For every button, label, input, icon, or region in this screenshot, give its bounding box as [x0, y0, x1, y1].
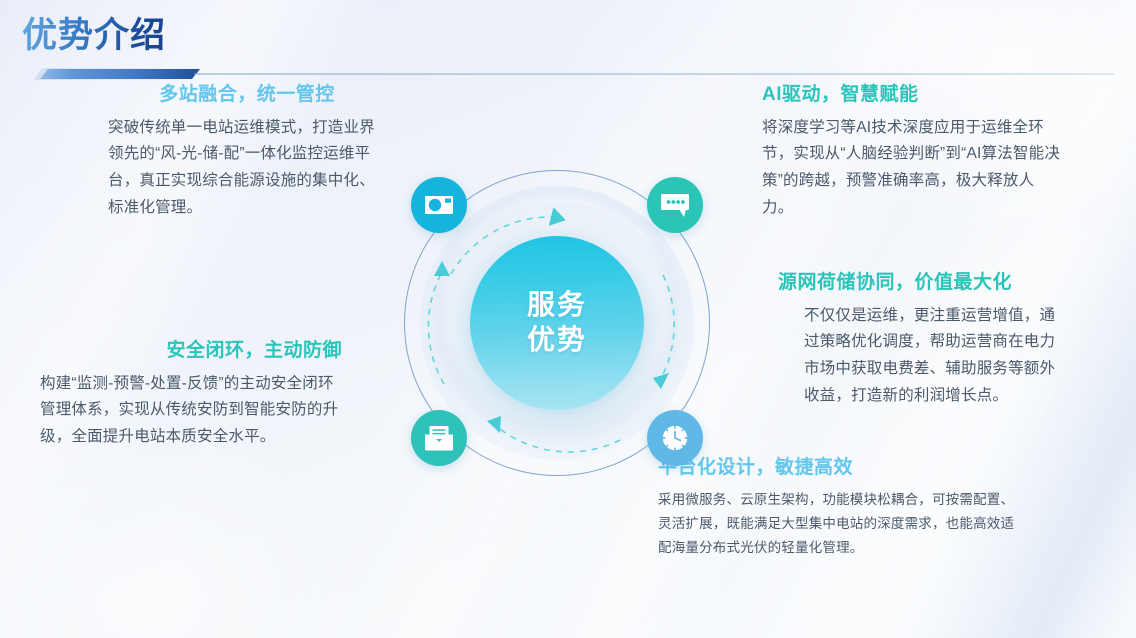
- feature-block-multi-station: 多站融合，统一管控 突破传统单一电站运维模式，打造业界领先的“风-光-储-配”一…: [108, 84, 386, 221]
- feature-block-ai-driven: AI驱动，智慧赋能 将深度学习等AI技术深度应用于运维全环节，实现从“人脑经验判…: [762, 84, 1062, 221]
- diagram-node-camera[interactable]: [411, 177, 467, 233]
- diagram-node-chat[interactable]: [647, 177, 703, 233]
- title-underline: [22, 66, 1114, 84]
- background-glow-bottom-left: [0, 418, 360, 638]
- core-label-line2: 优势: [527, 323, 587, 358]
- diagram-center-core: 服务 优势: [470, 236, 644, 410]
- slide-canvas: 优势介绍: [0, 0, 1136, 638]
- feature-heading-security: 安全闭环，主动防御: [40, 340, 348, 363]
- feature-body-ai-driven: 将深度学习等AI技术深度应用于运维全环节，实现从“人脑经验判断”到“AI算法智能…: [762, 115, 1062, 222]
- slide-header: 优势介绍: [22, 16, 1122, 55]
- service-advantage-diagram: 服务 优势: [382, 148, 732, 498]
- feature-block-value-max: 源网荷储协同，价值最大化 不仅仅是运维，更注重运营增值，通过策略优化调度，帮助运…: [778, 272, 1070, 409]
- page-title: 优势介绍: [22, 16, 170, 55]
- feature-block-security: 安全闭环，主动防御 构建“监测-预警-处置-反馈”的主动安全闭环管理体系，实现从…: [40, 340, 348, 451]
- clock-icon: [658, 421, 692, 455]
- chat-bubble-icon: [660, 192, 690, 218]
- feature-body-multi-station: 突破传统单一电站运维模式，打造业界领先的“风-光-储-配”一体化监控运维平台，真…: [108, 115, 386, 222]
- diagram-node-clock[interactable]: [647, 410, 703, 466]
- diagram-node-mail[interactable]: [411, 410, 467, 466]
- feature-body-value-max: 不仅仅是运维，更注重运营增值，通过策略优化调度，帮助运营商在电力市场中获取电费差…: [778, 303, 1070, 410]
- camera-icon: [424, 193, 454, 217]
- feature-heading-value-max: 源网荷储协同，价值最大化: [778, 272, 1070, 295]
- feature-body-platform: 采用微服务、云原生架构，功能模块松耦合，可按需配置、灵活扩展，既能满足大型集中电…: [658, 488, 1018, 560]
- feature-heading-ai-driven: AI驱动，智慧赋能: [762, 84, 1062, 107]
- mail-envelope-icon: [424, 425, 454, 452]
- core-label-line1: 服务: [527, 288, 587, 323]
- feature-body-security: 构建“监测-预警-处置-反馈”的主动安全闭环管理体系，实现从传统安防到智能安防的…: [40, 371, 348, 451]
- feature-heading-multi-station: 多站融合，统一管控: [108, 84, 386, 107]
